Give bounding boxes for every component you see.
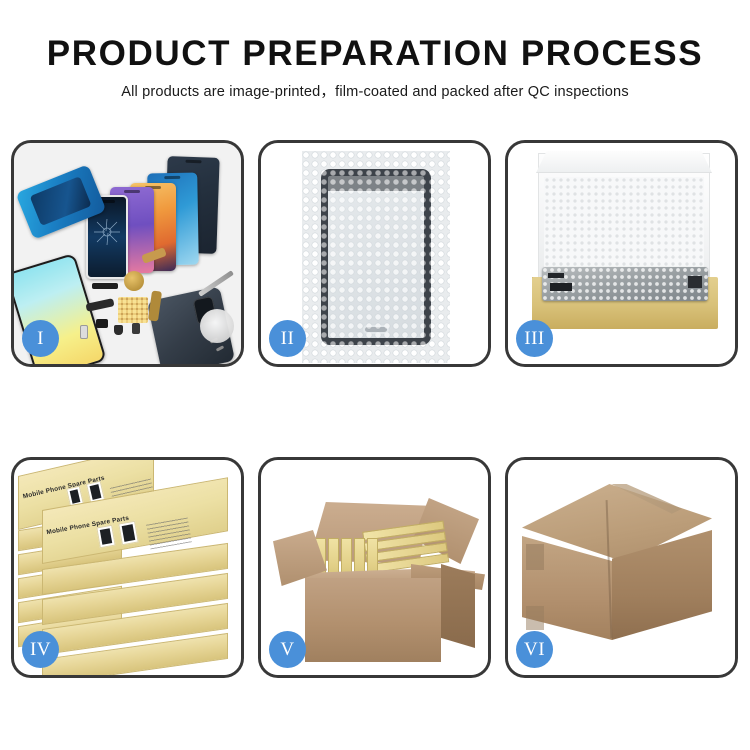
bubble-wrap-sheet [302,151,450,363]
box-label-lines-2 [146,517,192,550]
header: PRODUCT PREPARATION PROCESS All products… [0,0,750,102]
page-subtitle: All products are image-printed，film-coat… [0,83,750,102]
part-flex-cable-1 [85,298,114,312]
step-badge-1: I [22,320,59,357]
step-badge-2: II [269,320,306,357]
foam-insert [544,177,704,281]
page-title: PRODUCT PREPARATION PROCESS [0,34,750,74]
carton-tape-patch-2 [526,606,544,630]
part-small-3 [80,325,88,339]
step-badge-5: V [269,631,306,668]
part-adhesive-roll [200,309,234,343]
screen-assembly [321,169,431,345]
box-lid-fold [536,151,712,173]
screen-mark-2 [550,283,572,291]
part-strip [92,283,118,289]
screen-mark-3 [688,276,702,288]
notch-icon [124,190,140,193]
process-step-panel-6: VI [505,457,738,678]
box-tray [532,277,718,329]
process-steps-grid: I II [11,140,739,678]
screen-top-bezel [328,176,424,191]
process-step-panel-4: Mobile Phone Spare Parts Mobile Phone Sp… [11,457,244,678]
packed-screen [542,267,708,301]
part-chip-grid [118,297,148,323]
crack-icon [92,217,122,247]
notch-icon [164,176,180,179]
box-label-phone-2b [118,521,139,546]
carton-side [441,564,475,648]
part-small-2 [114,325,123,335]
notch-icon [185,160,201,164]
screen-mark-1 [548,273,564,278]
process-step-panel-5: V [258,457,491,678]
part-small-1 [96,319,108,328]
process-step-panel-2: II [258,140,491,367]
carton-body [305,578,441,662]
process-step-panel-3: III [505,140,738,367]
part-coil [124,271,144,291]
step-badge-6: VI [516,631,553,668]
film-inner [30,176,92,226]
step-badge-3: III [516,320,553,357]
step-badge-4: IV [22,631,59,668]
home-button-icon [363,325,389,334]
box-label-phone-2a [96,525,115,548]
carton-tape-patch-1 [526,544,544,570]
process-step-panel-1: I [11,140,244,367]
part-small-4 [132,323,140,334]
